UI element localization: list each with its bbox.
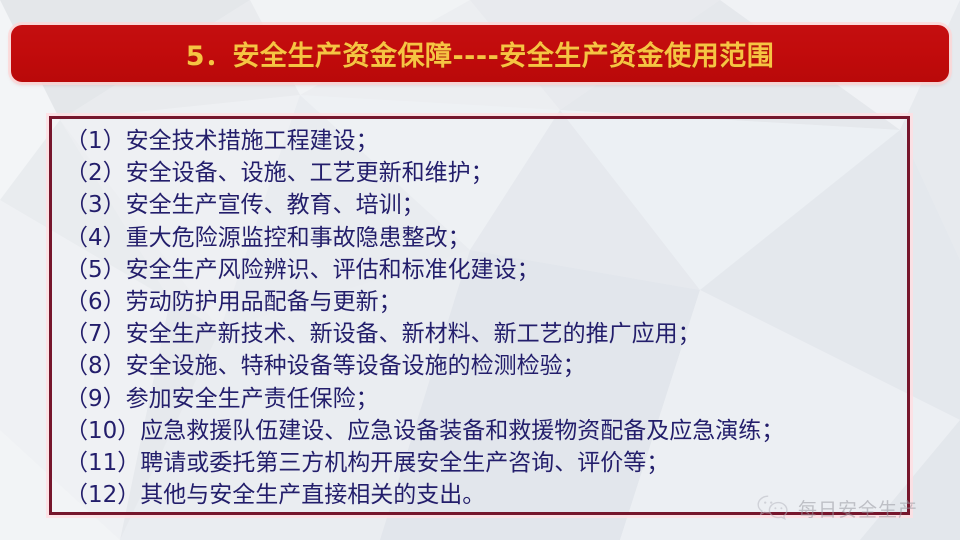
list-item: （8）安全设施、特种设备等设备设施的检测检验； (65, 350, 901, 382)
list-item: （6）劳动防护用品配备与更新； (65, 286, 901, 318)
list-item: （7）安全生产新技术、新设备、新材料、新工艺的推广应用； (65, 318, 901, 350)
page-title: 5．安全生产资金保障----安全生产资金使用范围 (186, 34, 775, 73)
list-item: （1）安全技术措施工程建设； (65, 125, 901, 157)
scope-item-list: （1）安全技术措施工程建设； （2）安全设备、设施、工艺更新和维护； （3）安全… (65, 125, 901, 511)
list-item: （5）安全生产风险辨识、评估和标准化建设； (65, 254, 901, 286)
list-item: （12）其他与安全生产直接相关的支出。 (65, 479, 901, 511)
list-item: （2）安全设备、设施、工艺更新和维护； (65, 157, 901, 189)
list-item: （10）应急救援队伍建设、应急设备装备和救援物资配备及应急演练； (65, 415, 901, 447)
list-item: （4）重大危险源监控和事故隐患整改； (65, 222, 901, 254)
content-panel: （1）安全技术措施工程建设； （2）安全设备、设施、工艺更新和维护； （3）安全… (49, 116, 910, 515)
list-item: （9）参加安全生产责任保险； (65, 383, 901, 415)
slide-canvas: 5．安全生产资金保障----安全生产资金使用范围 （1）安全技术措施工程建设； … (0, 0, 960, 540)
list-item: （3）安全生产宣传、教育、培训； (65, 189, 901, 221)
list-item: （11）聘请或委托第三方机构开展安全生产咨询、评价等； (65, 447, 901, 479)
title-banner: 5．安全生产资金保障----安全生产资金使用范围 (11, 25, 949, 82)
